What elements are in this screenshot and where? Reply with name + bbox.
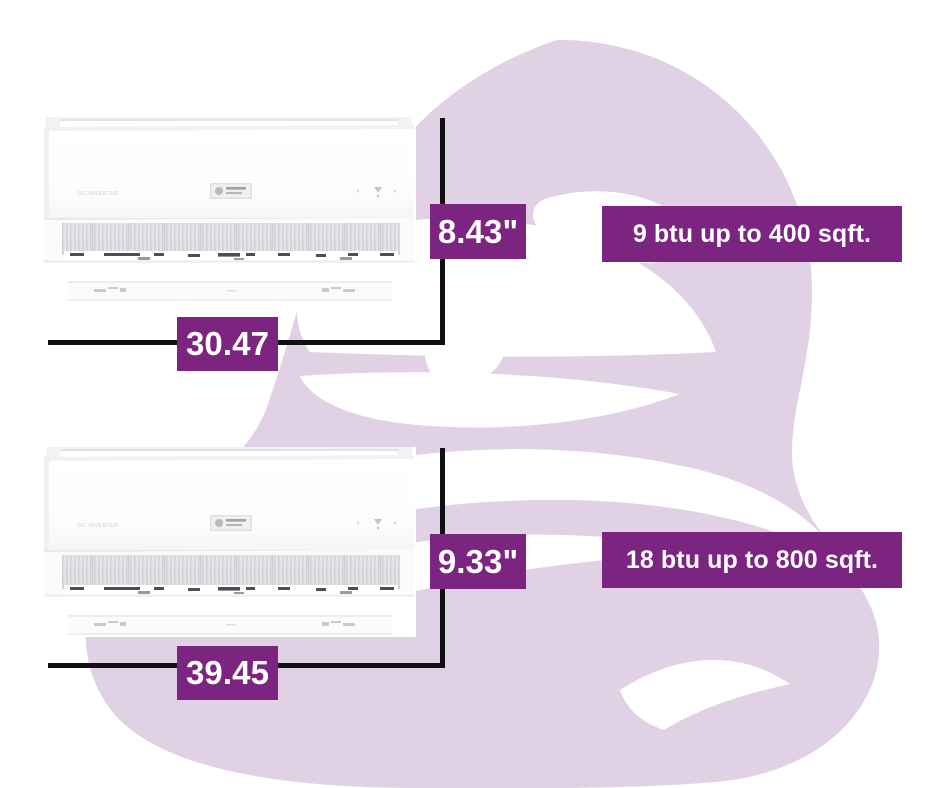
capacity-badge-9btu: 9 btu up to 400 sqft. <box>602 206 902 262</box>
svg-text:DC INVERTER: DC INVERTER <box>78 191 118 197</box>
svg-text:DC INVERTER: DC INVERTER <box>78 523 118 529</box>
height-badge-18btu: 9.33" <box>430 534 526 589</box>
height-badge-label: 8.43" <box>438 213 518 251</box>
comparison-graphic: DC INVERTER <box>0 0 940 788</box>
width-badge-label: 30.47 <box>186 325 269 363</box>
ac-unit-image-9btu: DC INVERTER <box>42 117 416 303</box>
capacity-badge-18btu: 18 btu up to 800 sqft. <box>602 532 902 588</box>
width-badge-9btu: 30.47 <box>177 317 278 371</box>
capacity-badge-label: 9 btu up to 400 sqft. <box>633 220 871 249</box>
ac-unit-image-18btu: DC INVERTER <box>42 447 416 637</box>
height-badge-label: 9.33" <box>438 543 518 581</box>
width-badge-18btu: 39.45 <box>177 646 278 700</box>
capacity-badge-label: 18 btu up to 800 sqft. <box>626 546 878 575</box>
height-badge-9btu: 8.43" <box>430 204 526 259</box>
width-badge-label: 39.45 <box>186 654 269 692</box>
